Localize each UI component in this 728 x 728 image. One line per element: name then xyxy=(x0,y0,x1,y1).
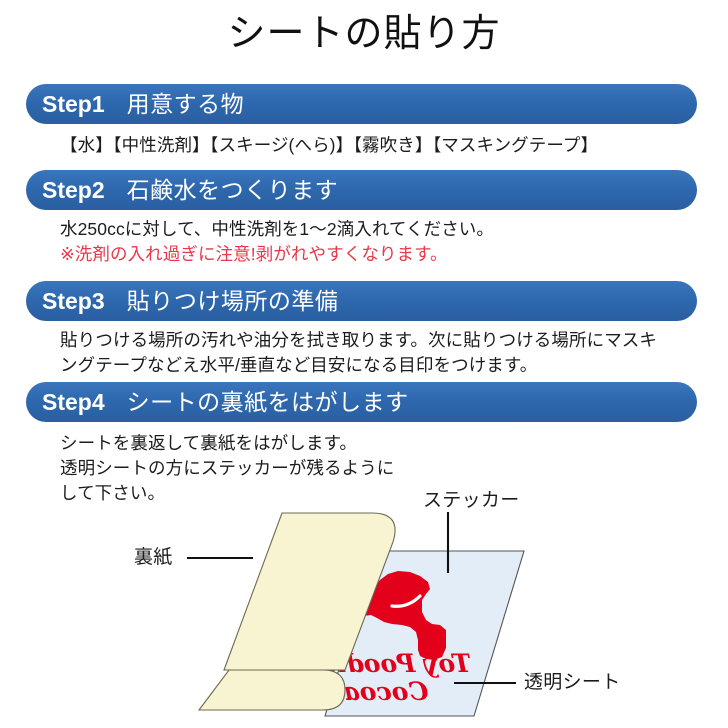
step-2-line-1: 水250ccに対して、中性洗剤を1〜2滴入れてください。 xyxy=(60,217,494,242)
step-bar-2: Step2 石鹸水をつくります xyxy=(26,170,697,210)
transparent-sheet-shape xyxy=(325,551,524,716)
step-4-line-2: 透明シートの方にステッカーが残るように xyxy=(60,456,394,481)
step-title-4: シートの裏紙をはがします xyxy=(127,382,409,422)
page-title: シートの貼り方 xyxy=(0,8,728,60)
step-title-3: 貼りつけ場所の準備 xyxy=(127,281,339,321)
step-number-4: Step4 xyxy=(42,382,105,422)
step-4-line-1: シートを裏返して裏紙をはがします。 xyxy=(60,431,357,456)
step-number-3: Step3 xyxy=(42,281,105,321)
step-title-1: 用意する物 xyxy=(127,84,245,124)
diagram-label-backing: 裏紙 xyxy=(134,546,173,570)
backing-paper-flap xyxy=(199,670,345,710)
step-4-line-3: して下さい。 xyxy=(60,481,165,506)
step-title-2: 石鹸水をつくります xyxy=(127,170,339,210)
sticker-wordmark-line-2: Cocoa xyxy=(344,677,429,706)
step-number-1: Step1 xyxy=(42,84,105,124)
svg-text:Cocoa: Cocoa xyxy=(344,677,429,706)
dog-sticker-shape xyxy=(344,571,446,660)
step-1-line-1: 【水】【中性洗剤】【スキージ(へら)】【霧吹き】【マスキングテープ】 xyxy=(60,133,598,158)
step-number-2: Step2 xyxy=(42,170,105,210)
step-bar-1: Step1 用意する物 xyxy=(26,84,697,124)
sticker-wordmark-line-1: Toy Poodle xyxy=(321,649,471,678)
step-bar-4: Step4 シートの裏紙をはがします xyxy=(26,382,697,422)
svg-text:Toy Poodle: Toy Poodle xyxy=(321,649,471,678)
diagram-label-sticker: ステッカー xyxy=(423,489,520,513)
instruction-page: シートの貼り方 Step1 用意する物 【水】【中性洗剤】【スキージ(へら)】【… xyxy=(0,0,728,728)
backing-paper-shape xyxy=(224,513,395,670)
step-bar-3: Step3 貼りつけ場所の準備 xyxy=(26,281,697,321)
step-2-line-2-warning: ※洗剤の入れ過ぎに注意!剥がれやすくなります。 xyxy=(60,242,448,267)
diagram-label-transparent-sheet: 透明シート xyxy=(524,671,621,695)
step-3-line-2: ングテープなどえ水平/垂直など目安になる目印をつけます。 xyxy=(60,353,537,378)
step-3-line-1: 貼りつける場所の汚れや油分を拭き取ります。次に貼りつける場所にマスキ xyxy=(60,328,657,353)
